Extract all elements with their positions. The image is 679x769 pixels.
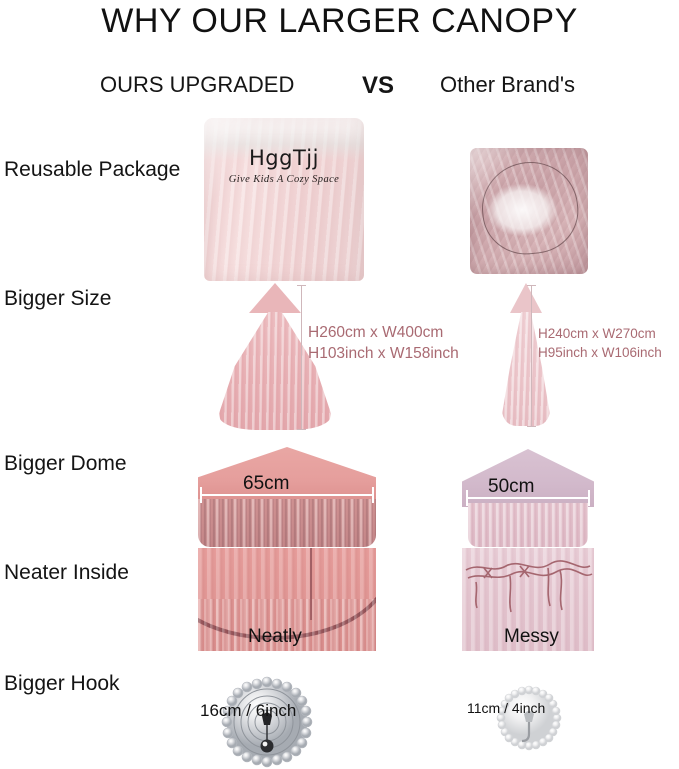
infographic-page: WHY OUR LARGER CANOPY OURS UPGRADED VS O… xyxy=(0,0,679,769)
ours-dome-width: 65cm xyxy=(243,473,289,495)
other-size-inch: H95inch x W106inch xyxy=(538,343,662,362)
other-size-dimensions: H240cm x W270cm H95inch x W106inch xyxy=(538,324,662,362)
column-header-other: Other Brand's xyxy=(440,72,575,98)
ours-package-photo: HggTjj Give Kids A Cozy Space xyxy=(204,118,364,281)
row-label-reusable-package: Reusable Package xyxy=(4,158,180,182)
package-tagline: Give Kids A Cozy Space xyxy=(204,174,364,185)
ours-height-measure-line xyxy=(301,285,302,430)
tangled-cord-shape xyxy=(477,157,582,259)
other-size-cm: H240cm x W270cm xyxy=(538,324,662,343)
dome-drape-fabric xyxy=(198,499,376,547)
other-height-measure-line xyxy=(531,285,532,427)
ours-inside-caption: Neatly xyxy=(248,626,302,648)
other-inside-caption: Messy xyxy=(504,626,559,648)
column-header-ours: OURS UPGRADED xyxy=(100,72,294,98)
dome-drape-fabric xyxy=(468,503,588,547)
ours-size-inch: H103inch x W158inch xyxy=(308,343,459,364)
row-label-bigger-dome: Bigger Dome xyxy=(4,452,127,476)
package-brand-name: HggTjj xyxy=(204,146,364,170)
other-package-photo xyxy=(470,148,588,274)
versus-label: VS xyxy=(362,72,394,100)
scalloped-disc-icon xyxy=(213,676,321,768)
canopy-cone xyxy=(510,283,542,313)
row-label-neater-inside: Neater Inside xyxy=(4,561,129,585)
ours-size-cm: H260cm x W400cm xyxy=(308,322,459,343)
page-title: WHY OUR LARGER CANOPY xyxy=(0,2,679,41)
ours-size-dimensions: H260cm x W400cm H103inch x W158inch xyxy=(308,322,459,364)
ours-dome-photo xyxy=(198,447,376,547)
other-dome-width: 50cm xyxy=(488,476,534,498)
other-hook-photo: 11cm / 4inch xyxy=(491,684,567,754)
other-hook-size: 11cm / 4inch xyxy=(467,700,545,716)
scalloped-disc-icon xyxy=(491,684,567,754)
row-label-bigger-size: Bigger Size xyxy=(4,287,111,311)
ours-hook-size: 16cm / 6inch xyxy=(200,701,296,721)
canopy-cone xyxy=(249,283,301,313)
row-label-bigger-hook: Bigger Hook xyxy=(4,672,120,696)
ours-hook-photo: 16cm / 6inch xyxy=(213,676,321,768)
